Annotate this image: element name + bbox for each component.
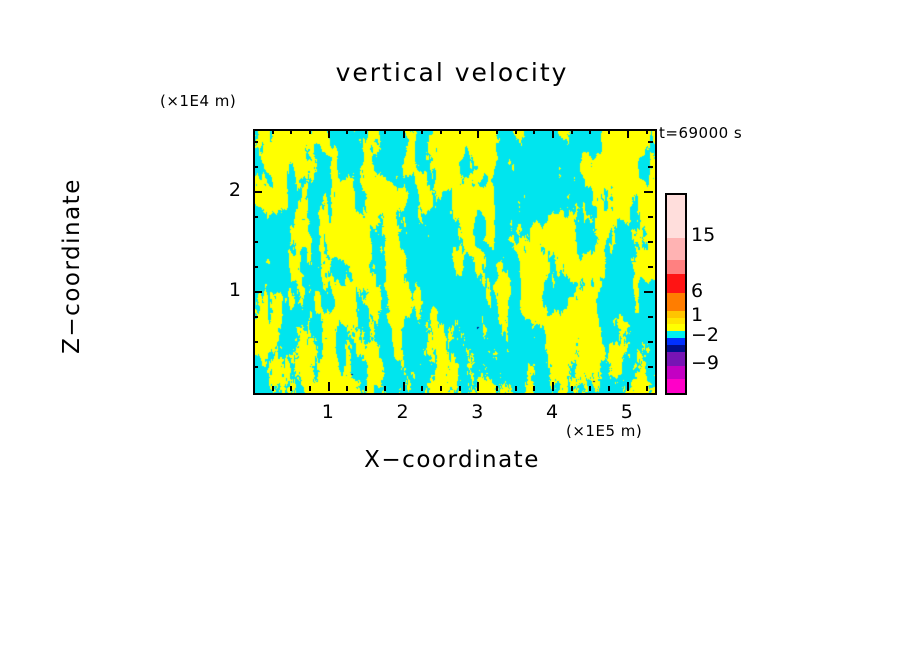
y-axis-unit-label: (×1E4 m) [160, 92, 236, 110]
axis-tick [290, 129, 292, 134]
axis-tick [253, 241, 258, 243]
axis-tick [646, 129, 648, 134]
axis-tick [253, 141, 258, 143]
colorbar-band [667, 338, 685, 345]
axis-tick [403, 129, 405, 138]
timestamp-label: t=69000 s [659, 124, 742, 142]
axis-tick [571, 386, 573, 391]
axis-tick [648, 316, 653, 318]
axis-tick [552, 382, 554, 391]
axis-tick [648, 341, 653, 343]
axis-tick [272, 129, 274, 134]
x-axis-unit-label: (×1E5 m) [566, 422, 642, 440]
axis-tick [515, 129, 517, 134]
colorbar-band [667, 260, 685, 274]
colorbar-band [667, 195, 685, 238]
colorbar-band [667, 379, 685, 393]
x-tick-label: 1 [308, 401, 348, 423]
colorbar-tick-label: 6 [691, 280, 703, 302]
axis-tick [646, 386, 648, 391]
axis-tick [648, 266, 653, 268]
axis-tick [648, 216, 653, 218]
colorbar-band [667, 238, 685, 259]
axis-tick [644, 191, 653, 193]
axis-tick [477, 382, 479, 391]
axis-tick [440, 386, 442, 391]
axis-tick [365, 129, 367, 134]
colorbar-tick-label: 1 [691, 304, 703, 326]
axis-tick [253, 266, 258, 268]
x-tick-label: 3 [457, 401, 497, 423]
colorbar-band [667, 324, 685, 331]
axis-tick [384, 386, 386, 391]
x-axis-title: X−coordinate [0, 447, 904, 473]
colorbar-band [667, 331, 685, 338]
colorbar-band [667, 352, 685, 366]
y-tick-label: 1 [201, 279, 241, 301]
axis-tick [459, 386, 461, 391]
axis-tick [328, 129, 330, 138]
colorbar-band [667, 345, 685, 353]
axis-tick [533, 386, 535, 391]
axis-tick [421, 129, 423, 134]
colorbar[interactable] [665, 193, 687, 395]
x-tick-label: 5 [607, 401, 647, 423]
axis-tick [648, 366, 653, 368]
axis-tick [589, 386, 591, 391]
axis-tick [608, 129, 610, 134]
colorbar-band [667, 311, 685, 318]
axis-tick [477, 129, 479, 138]
axis-tick [515, 386, 517, 391]
axis-tick [253, 366, 258, 368]
axis-tick [309, 129, 311, 134]
axis-tick [253, 291, 262, 293]
y-tick-label: 2 [201, 179, 241, 201]
colorbar-tick-label: −9 [691, 352, 719, 374]
velocity-field-canvas [255, 131, 655, 393]
heatmap-plot-area[interactable] [253, 129, 657, 395]
axis-tick [253, 341, 258, 343]
page-title: vertical velocity [0, 58, 904, 87]
axis-tick [421, 386, 423, 391]
axis-tick [496, 386, 498, 391]
colorbar-band [667, 318, 685, 325]
axis-tick [533, 129, 535, 134]
axis-tick [346, 129, 348, 134]
axis-tick [627, 382, 629, 391]
axis-tick [384, 129, 386, 134]
axis-tick [290, 386, 292, 391]
axis-tick [459, 129, 461, 134]
y-axis-title: Z−coordinate [59, 136, 85, 396]
axis-tick [440, 129, 442, 134]
axis-tick [644, 291, 653, 293]
axis-tick [403, 382, 405, 391]
axis-tick [571, 129, 573, 134]
axis-tick [648, 166, 653, 168]
axis-tick [648, 141, 653, 143]
axis-tick [309, 386, 311, 391]
x-tick-label: 2 [383, 401, 423, 423]
axis-tick [627, 129, 629, 138]
axis-tick [648, 241, 653, 243]
axis-tick [253, 166, 258, 168]
axis-tick [272, 386, 274, 391]
x-tick-label: 4 [532, 401, 572, 423]
colorbar-band [667, 274, 685, 293]
axis-tick [552, 129, 554, 138]
colorbar-tick-label: −2 [691, 324, 719, 346]
axis-tick [253, 216, 258, 218]
colorbar-band [667, 366, 685, 380]
axis-tick [253, 191, 262, 193]
axis-tick [365, 386, 367, 391]
colorbar-band [667, 293, 685, 310]
axis-tick [589, 129, 591, 134]
axis-tick [496, 129, 498, 134]
axis-tick [328, 382, 330, 391]
axis-tick [346, 386, 348, 391]
axis-tick [608, 386, 610, 391]
figure-canvas: vertical velocity (×1E4 m) t=69000 s 123… [0, 0, 904, 654]
axis-tick [253, 316, 258, 318]
colorbar-tick-label: 15 [691, 224, 715, 246]
